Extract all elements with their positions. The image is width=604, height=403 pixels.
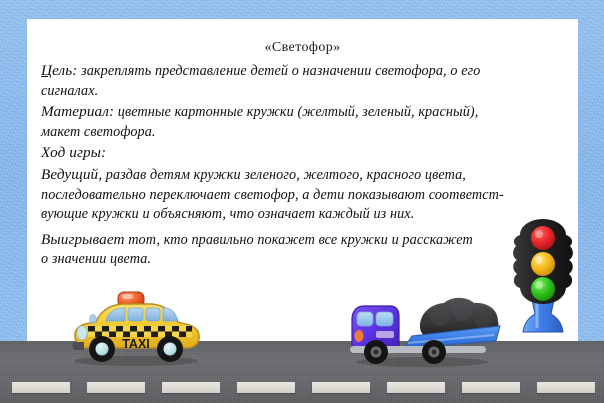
road-marking	[87, 382, 145, 393]
red-lamp-gloss	[535, 230, 543, 238]
body-text: Цель: закреплять представление детей о н…	[41, 61, 569, 271]
yellow-lamp-gloss	[535, 256, 543, 264]
course-label: Ход игры:	[41, 144, 106, 161]
winner-label: Выигрывает	[41, 231, 125, 248]
yellow-lamp	[531, 252, 555, 276]
road-marking	[162, 382, 220, 393]
taxi-car-illustration: TAXI	[66, 286, 206, 368]
road-marking	[387, 382, 445, 393]
truck-wheel-rear	[422, 340, 446, 364]
course-line-2: последовательно переключает светофор, а …	[41, 187, 504, 203]
course-line-3: вующие кружки и объясняют, что означает …	[41, 206, 414, 222]
truck-svg	[338, 286, 514, 370]
road-marking	[237, 382, 295, 393]
goal-label: Цель:	[41, 62, 77, 79]
road-marking	[312, 382, 370, 393]
course-line-1: раздав детям кружки зеленого, желтого, к…	[102, 167, 466, 183]
page-title: «Светофор»	[27, 40, 578, 56]
road-marking	[537, 382, 595, 393]
green-lamp-gloss	[535, 281, 543, 289]
traffic-light-svg	[506, 216, 580, 344]
taxi-svg: TAXI	[66, 286, 206, 368]
taxi-checker-stripe	[88, 326, 192, 337]
paragraph-course-heading: Ход игры:	[41, 143, 569, 164]
taxi-label: TAXI	[122, 337, 150, 351]
taxi-mirror	[89, 314, 97, 324]
taxi-bumper	[72, 342, 84, 350]
green-lamp	[531, 277, 555, 301]
leader-label: Ведущий,	[41, 166, 102, 183]
road-marking	[462, 382, 520, 393]
dump-truck-illustration	[338, 286, 514, 370]
taxi-windows	[106, 308, 178, 321]
red-lamp	[531, 226, 555, 250]
goal-line-2: сигналах.	[41, 83, 98, 99]
goal-label-initial: Ц	[41, 62, 52, 79]
material-line-2: макет светофора.	[41, 124, 156, 140]
truck-headlight	[355, 330, 364, 342]
traffic-light-post	[523, 300, 563, 332]
taxi-headlight	[77, 326, 87, 340]
truck-grill	[376, 331, 394, 338]
material-label: Материал:	[41, 103, 114, 120]
paragraph-goal: Цель: закреплять представление детей о н…	[41, 61, 569, 101]
truck-wheel-front	[364, 340, 388, 364]
taxi-wheel-front	[89, 336, 115, 362]
winner-line-2: о значении цвета.	[41, 251, 151, 267]
winner-line-1: тот, кто правильно покажет все кружки и …	[125, 232, 473, 248]
paragraph-winner: Выигрывает тот, кто правильно покажет вс…	[41, 230, 569, 270]
road-marking	[12, 382, 70, 393]
traffic-light-illustration	[506, 216, 580, 344]
slide-canvas: «Светофор» Цель: закреплять представлени…	[0, 0, 604, 403]
goal-line-1: закреплять представление детей о назначе…	[77, 63, 480, 79]
paragraph-material: Материал: цветные картонные кружки (желт…	[41, 102, 569, 142]
taxi-wheel-rear	[157, 336, 183, 362]
material-line-1: цветные картонные кружки (желтый, зелены…	[114, 104, 478, 120]
paragraph-course: Ведущий, раздав детям кружки зеленого, ж…	[41, 165, 569, 225]
